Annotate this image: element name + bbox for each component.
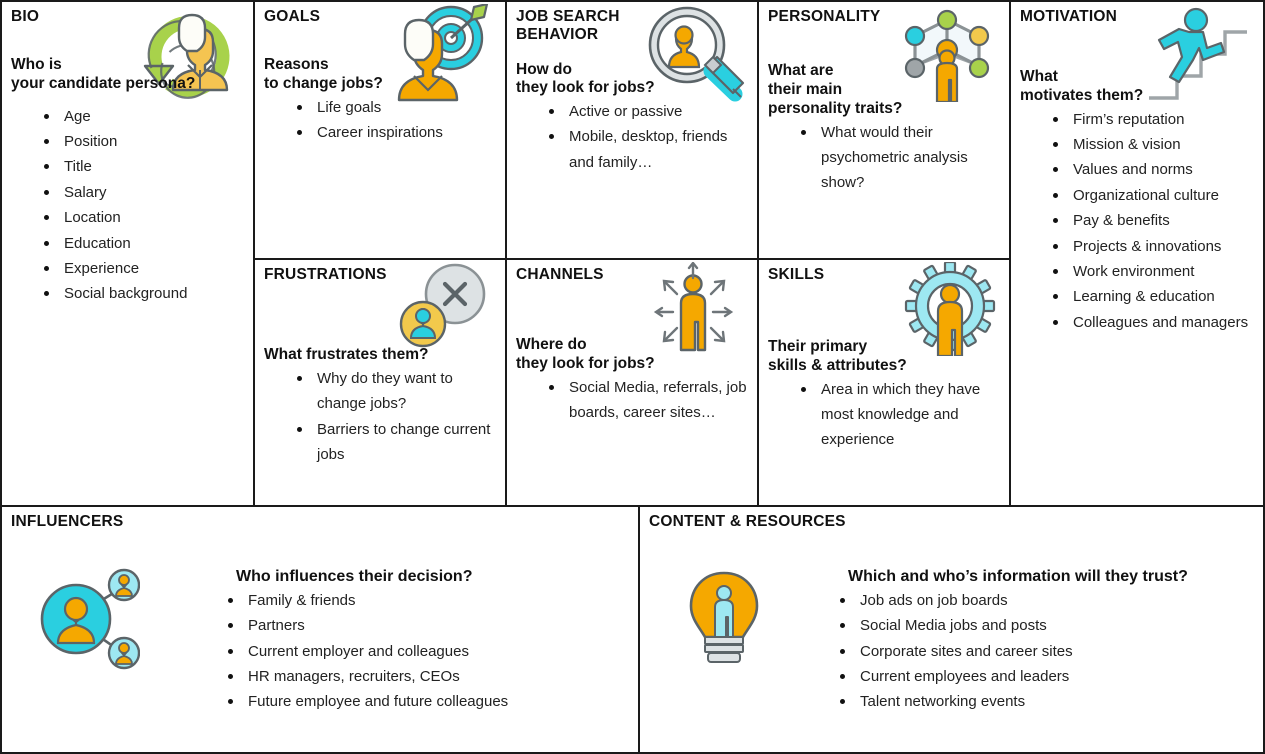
list-item: Current employer and colleagues [226, 639, 622, 664]
list-item: Why do they want to change jobs? [295, 366, 499, 417]
card-goals-question: Reasons to change jobs? [264, 56, 505, 94]
content-resources-text-column: Which and who’s information will they tr… [808, 541, 1263, 714]
card-bio-question: Who is your candidate persona? [11, 56, 253, 94]
card-motivation-title: MOTIVATION [1020, 8, 1176, 26]
question-line-1: What frustrates them? [264, 346, 505, 365]
card-frustrations-title: FRUSTRATIONS [264, 266, 419, 284]
card-channels-title: CHANNELS [516, 266, 671, 284]
question-line-2: they look for jobs? [516, 355, 757, 374]
list-item: Social Media jobs and posts [838, 613, 1247, 638]
list-item: Pay & benefits [1051, 208, 1257, 233]
list-item: Job ads on job boards [838, 588, 1247, 613]
list-item: Corporate sites and career sites [838, 639, 1247, 664]
list-item: Barriers to change current jobs [295, 417, 499, 468]
card-channels: CHANNELS Where do they l [505, 258, 759, 507]
card-bio-bullet-list: Age Position Title Salary Location Educa… [2, 104, 253, 307]
card-skills: SKILLS [757, 258, 1011, 507]
question-line-2: motivates them? [1020, 87, 1263, 106]
list-item: Values and norms [1051, 157, 1257, 182]
list-item: Salary [42, 180, 247, 205]
card-job-search-behavior-title: JOB SEARCH BEHAVIOR [516, 8, 671, 45]
person-network-share-icon [36, 567, 140, 676]
card-skills-title: SKILLS [768, 266, 923, 284]
card-motivation: MOTIVATION What motivates them? Firm’s r… [1009, 0, 1265, 507]
card-job-search-behavior-bullet-list: Active or passive Mobile, desktop, frien… [507, 99, 757, 175]
list-item: Position [42, 129, 247, 154]
card-channels-question: Where do they look for jobs? [516, 336, 757, 374]
card-goals-title: GOALS [264, 8, 419, 26]
content-resources-icon-column [640, 541, 808, 676]
card-title-line-1: JOB SEARCH [516, 8, 671, 26]
question-line-1: Their primary [768, 338, 1009, 357]
list-item: Talent networking events [838, 689, 1247, 714]
list-item: Projects & innovations [1051, 234, 1257, 259]
list-item: Work environment [1051, 259, 1257, 284]
list-item: Social background [42, 281, 247, 306]
list-item: Firm’s reputation [1051, 107, 1257, 132]
card-skills-bullet-list: Area in which they have most knowledge a… [759, 377, 1009, 453]
card-bio-question-line-2: your candidate persona? [11, 75, 253, 94]
list-item: Social Media, referrals, job boards, car… [547, 375, 751, 426]
question-line-1: What [1020, 68, 1263, 87]
list-item: Career inspirations [295, 120, 499, 145]
card-bio: BIO Who is your candidate persona? Age [0, 0, 255, 507]
list-item: Life goals [295, 95, 499, 120]
influencers-text-column: Who influences their decision? Family & … [174, 541, 638, 714]
card-influencers-title: INFLUENCERS [11, 513, 405, 531]
question-line-2: they look for jobs? [516, 79, 757, 98]
card-motivation-question: What motivates them? [1020, 68, 1263, 106]
card-influencers: INFLUENCERS [0, 505, 640, 754]
question-line-1: What are [768, 62, 1009, 81]
card-personality-bullet-list: What would their psychometric analysis s… [759, 120, 1009, 196]
card-influencers-bullet-list: Family & friends Partners Current employ… [174, 588, 628, 714]
card-influencers-question: Who influences their decision? [174, 568, 628, 586]
card-content-resources-bullet-list: Job ads on job boards Social Media jobs … [808, 588, 1253, 714]
question-line-2: their main [768, 81, 1009, 100]
list-item: Location [42, 205, 247, 230]
card-bio-question-line-1: Who is [11, 56, 253, 75]
card-goals-bullet-list: Life goals Career inspirations [255, 95, 505, 146]
list-item: Current employees and leaders [838, 664, 1247, 689]
card-content-resources-question: Which and who’s information will they tr… [808, 568, 1253, 586]
card-title-line-2: BEHAVIOR [516, 26, 671, 44]
list-item: Mobile, desktop, friends and family… [547, 124, 751, 175]
card-frustrations-bullet-list: Why do they want to change jobs? Barrier… [255, 366, 505, 467]
card-goals: GOALS Reasons to change jobs? Life goals… [253, 0, 507, 260]
lightbulb-person-icon [685, 571, 763, 676]
list-item: Organizational culture [1051, 183, 1257, 208]
card-personality: PERSONALITY What are their [757, 0, 1011, 260]
list-item: Family & friends [226, 588, 622, 613]
card-skills-question: Their primary skills & attributes? [768, 338, 1009, 376]
card-personality-title: PERSONALITY [768, 8, 923, 26]
persona-canvas: BIO Who is your candidate persona? Age [0, 0, 1265, 754]
list-item: Colleagues and managers [1051, 310, 1257, 335]
card-job-search-behavior-question: How do they look for jobs? [516, 61, 757, 99]
list-item: HR managers, recruiters, CEOs [226, 664, 622, 689]
card-content-resources: CONTENT & RESOURCES [638, 505, 1265, 754]
list-item: Experience [42, 256, 247, 281]
list-item: Future employee and future colleagues [226, 689, 622, 714]
list-item: Active or passive [547, 99, 751, 124]
list-item: Age [42, 104, 247, 129]
list-item: Partners [226, 613, 622, 638]
list-item: Area in which they have most knowledge a… [799, 377, 1003, 453]
card-bio-title: BIO [11, 8, 167, 26]
question-line-3: personality traits? [768, 100, 1009, 119]
question-line-1: Where do [516, 336, 757, 355]
card-channels-bullet-list: Social Media, referrals, job boards, car… [507, 375, 757, 426]
card-frustrations: FRUSTRATIONS What frustrates them? Why d… [253, 258, 507, 507]
list-item: Education [42, 231, 247, 256]
card-frustrations-question: What frustrates them? [264, 346, 505, 365]
card-goals-question-line-1: Reasons [264, 56, 505, 75]
question-line-2: skills & attributes? [768, 357, 1009, 376]
question-line-1: How do [516, 61, 757, 80]
card-personality-question: What are their main personality traits? [768, 62, 1009, 118]
list-item: Learning & education [1051, 284, 1257, 309]
list-item: What would their psychometric analysis s… [799, 120, 1003, 196]
influencers-icon-column [2, 541, 174, 676]
list-item: Title [42, 154, 247, 179]
card-job-search-behavior: JOB SEARCH BEHAVIOR How do they look for… [505, 0, 759, 260]
card-motivation-bullet-list: Firm’s reputation Mission & vision Value… [1011, 107, 1263, 335]
card-content-resources-title: CONTENT & RESOURCES [649, 513, 1035, 531]
list-item: Mission & vision [1051, 132, 1257, 157]
card-goals-question-line-2: to change jobs? [264, 75, 505, 94]
